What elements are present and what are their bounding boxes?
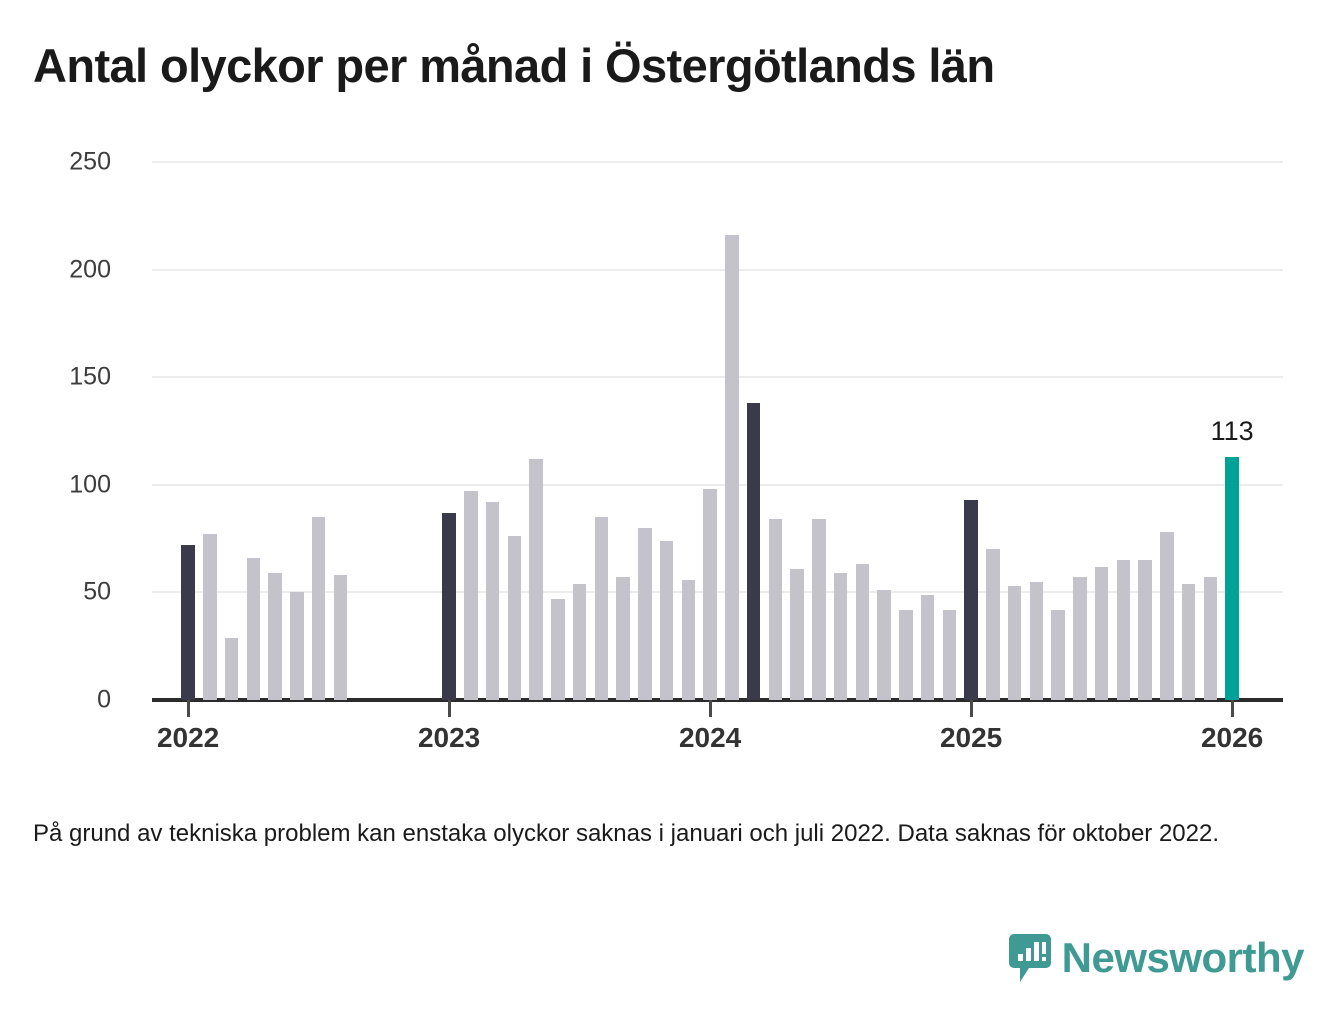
bar[interactable] bbox=[682, 580, 695, 701]
bar[interactable] bbox=[290, 592, 303, 700]
bar[interactable] bbox=[312, 517, 325, 700]
bar[interactable] bbox=[573, 584, 586, 700]
y-axis-tick-label: 0 bbox=[97, 686, 111, 715]
x-axis-tick-label: 2025 bbox=[940, 722, 1002, 754]
bar[interactable] bbox=[790, 569, 803, 700]
x-axis-tick bbox=[187, 700, 190, 717]
x-axis-tick bbox=[448, 700, 451, 717]
bar[interactable] bbox=[1051, 610, 1064, 700]
bar[interactable] bbox=[747, 403, 760, 700]
bar[interactable] bbox=[508, 536, 521, 700]
x-axis-tick-label: 2024 bbox=[679, 722, 741, 754]
bar[interactable] bbox=[1008, 586, 1021, 700]
bar[interactable] bbox=[334, 575, 347, 700]
bar[interactable] bbox=[1117, 560, 1130, 700]
x-axis-tick-label: 2023 bbox=[418, 722, 480, 754]
footnote-text: På grund av tekniska problem kan enstaka… bbox=[33, 818, 1248, 850]
bar[interactable] bbox=[899, 610, 912, 700]
bar[interactable] bbox=[638, 528, 651, 700]
bar[interactable] bbox=[660, 541, 673, 700]
bar[interactable] bbox=[551, 599, 564, 700]
y-axis-tick-label: 100 bbox=[69, 470, 111, 499]
bar[interactable] bbox=[442, 513, 455, 700]
bar[interactable] bbox=[769, 519, 782, 700]
bar-chart-bubble-icon bbox=[1009, 934, 1051, 982]
bar[interactable] bbox=[181, 545, 194, 700]
x-axis: 20222023202420252026 bbox=[152, 700, 1283, 768]
bar[interactable] bbox=[1204, 577, 1217, 700]
bar[interactable] bbox=[1160, 532, 1173, 700]
bar[interactable] bbox=[486, 502, 499, 700]
bar[interactable] bbox=[1030, 582, 1043, 700]
y-axis-labels: 050100150200250 bbox=[33, 162, 133, 700]
bar[interactable] bbox=[1182, 584, 1195, 700]
x-axis-tick-label: 2026 bbox=[1201, 722, 1263, 754]
bar[interactable] bbox=[964, 500, 977, 700]
y-axis-tick-label: 250 bbox=[69, 148, 111, 177]
bar[interactable] bbox=[616, 577, 629, 700]
logo-wordmark: Newsworthy bbox=[1062, 937, 1304, 979]
bar[interactable] bbox=[921, 595, 934, 700]
bar[interactable] bbox=[268, 573, 281, 700]
bar[interactable] bbox=[703, 489, 716, 700]
chart-page: Antal olyckor per månad i Östergötlands … bbox=[0, 0, 1340, 1020]
bar[interactable] bbox=[1225, 457, 1238, 700]
bar[interactable] bbox=[725, 235, 738, 700]
y-axis-tick-label: 150 bbox=[69, 363, 111, 392]
bar[interactable] bbox=[856, 564, 869, 700]
bar[interactable] bbox=[247, 558, 260, 700]
bar[interactable] bbox=[464, 491, 477, 700]
plot-area: 113 bbox=[152, 162, 1283, 700]
bar[interactable] bbox=[225, 638, 238, 700]
chart-container: 050100150200250 113 20222023202420252026 bbox=[33, 140, 1283, 770]
x-axis-tick bbox=[709, 700, 712, 717]
bar[interactable] bbox=[529, 459, 542, 700]
bar[interactable] bbox=[1073, 577, 1086, 700]
x-axis-tick-label: 2022 bbox=[157, 722, 219, 754]
bar-value-label: 113 bbox=[1211, 416, 1254, 447]
y-axis-tick-label: 50 bbox=[83, 578, 111, 607]
bar[interactable] bbox=[943, 610, 956, 700]
bar[interactable] bbox=[877, 590, 890, 700]
newsworthy-logo: Newsworthy bbox=[1009, 934, 1304, 982]
page-title: Antal olyckor per månad i Östergötlands … bbox=[33, 38, 994, 93]
x-axis-tick bbox=[970, 700, 973, 717]
bar[interactable] bbox=[1095, 567, 1108, 700]
bar[interactable] bbox=[812, 519, 825, 700]
bar[interactable] bbox=[1138, 560, 1151, 700]
bar[interactable] bbox=[986, 549, 999, 700]
bar[interactable] bbox=[203, 534, 216, 700]
bar-series: 113 bbox=[152, 162, 1283, 700]
bar[interactable] bbox=[595, 517, 608, 700]
x-axis-tick bbox=[1231, 700, 1234, 717]
y-axis-tick-label: 200 bbox=[69, 255, 111, 284]
bar[interactable] bbox=[834, 573, 847, 700]
